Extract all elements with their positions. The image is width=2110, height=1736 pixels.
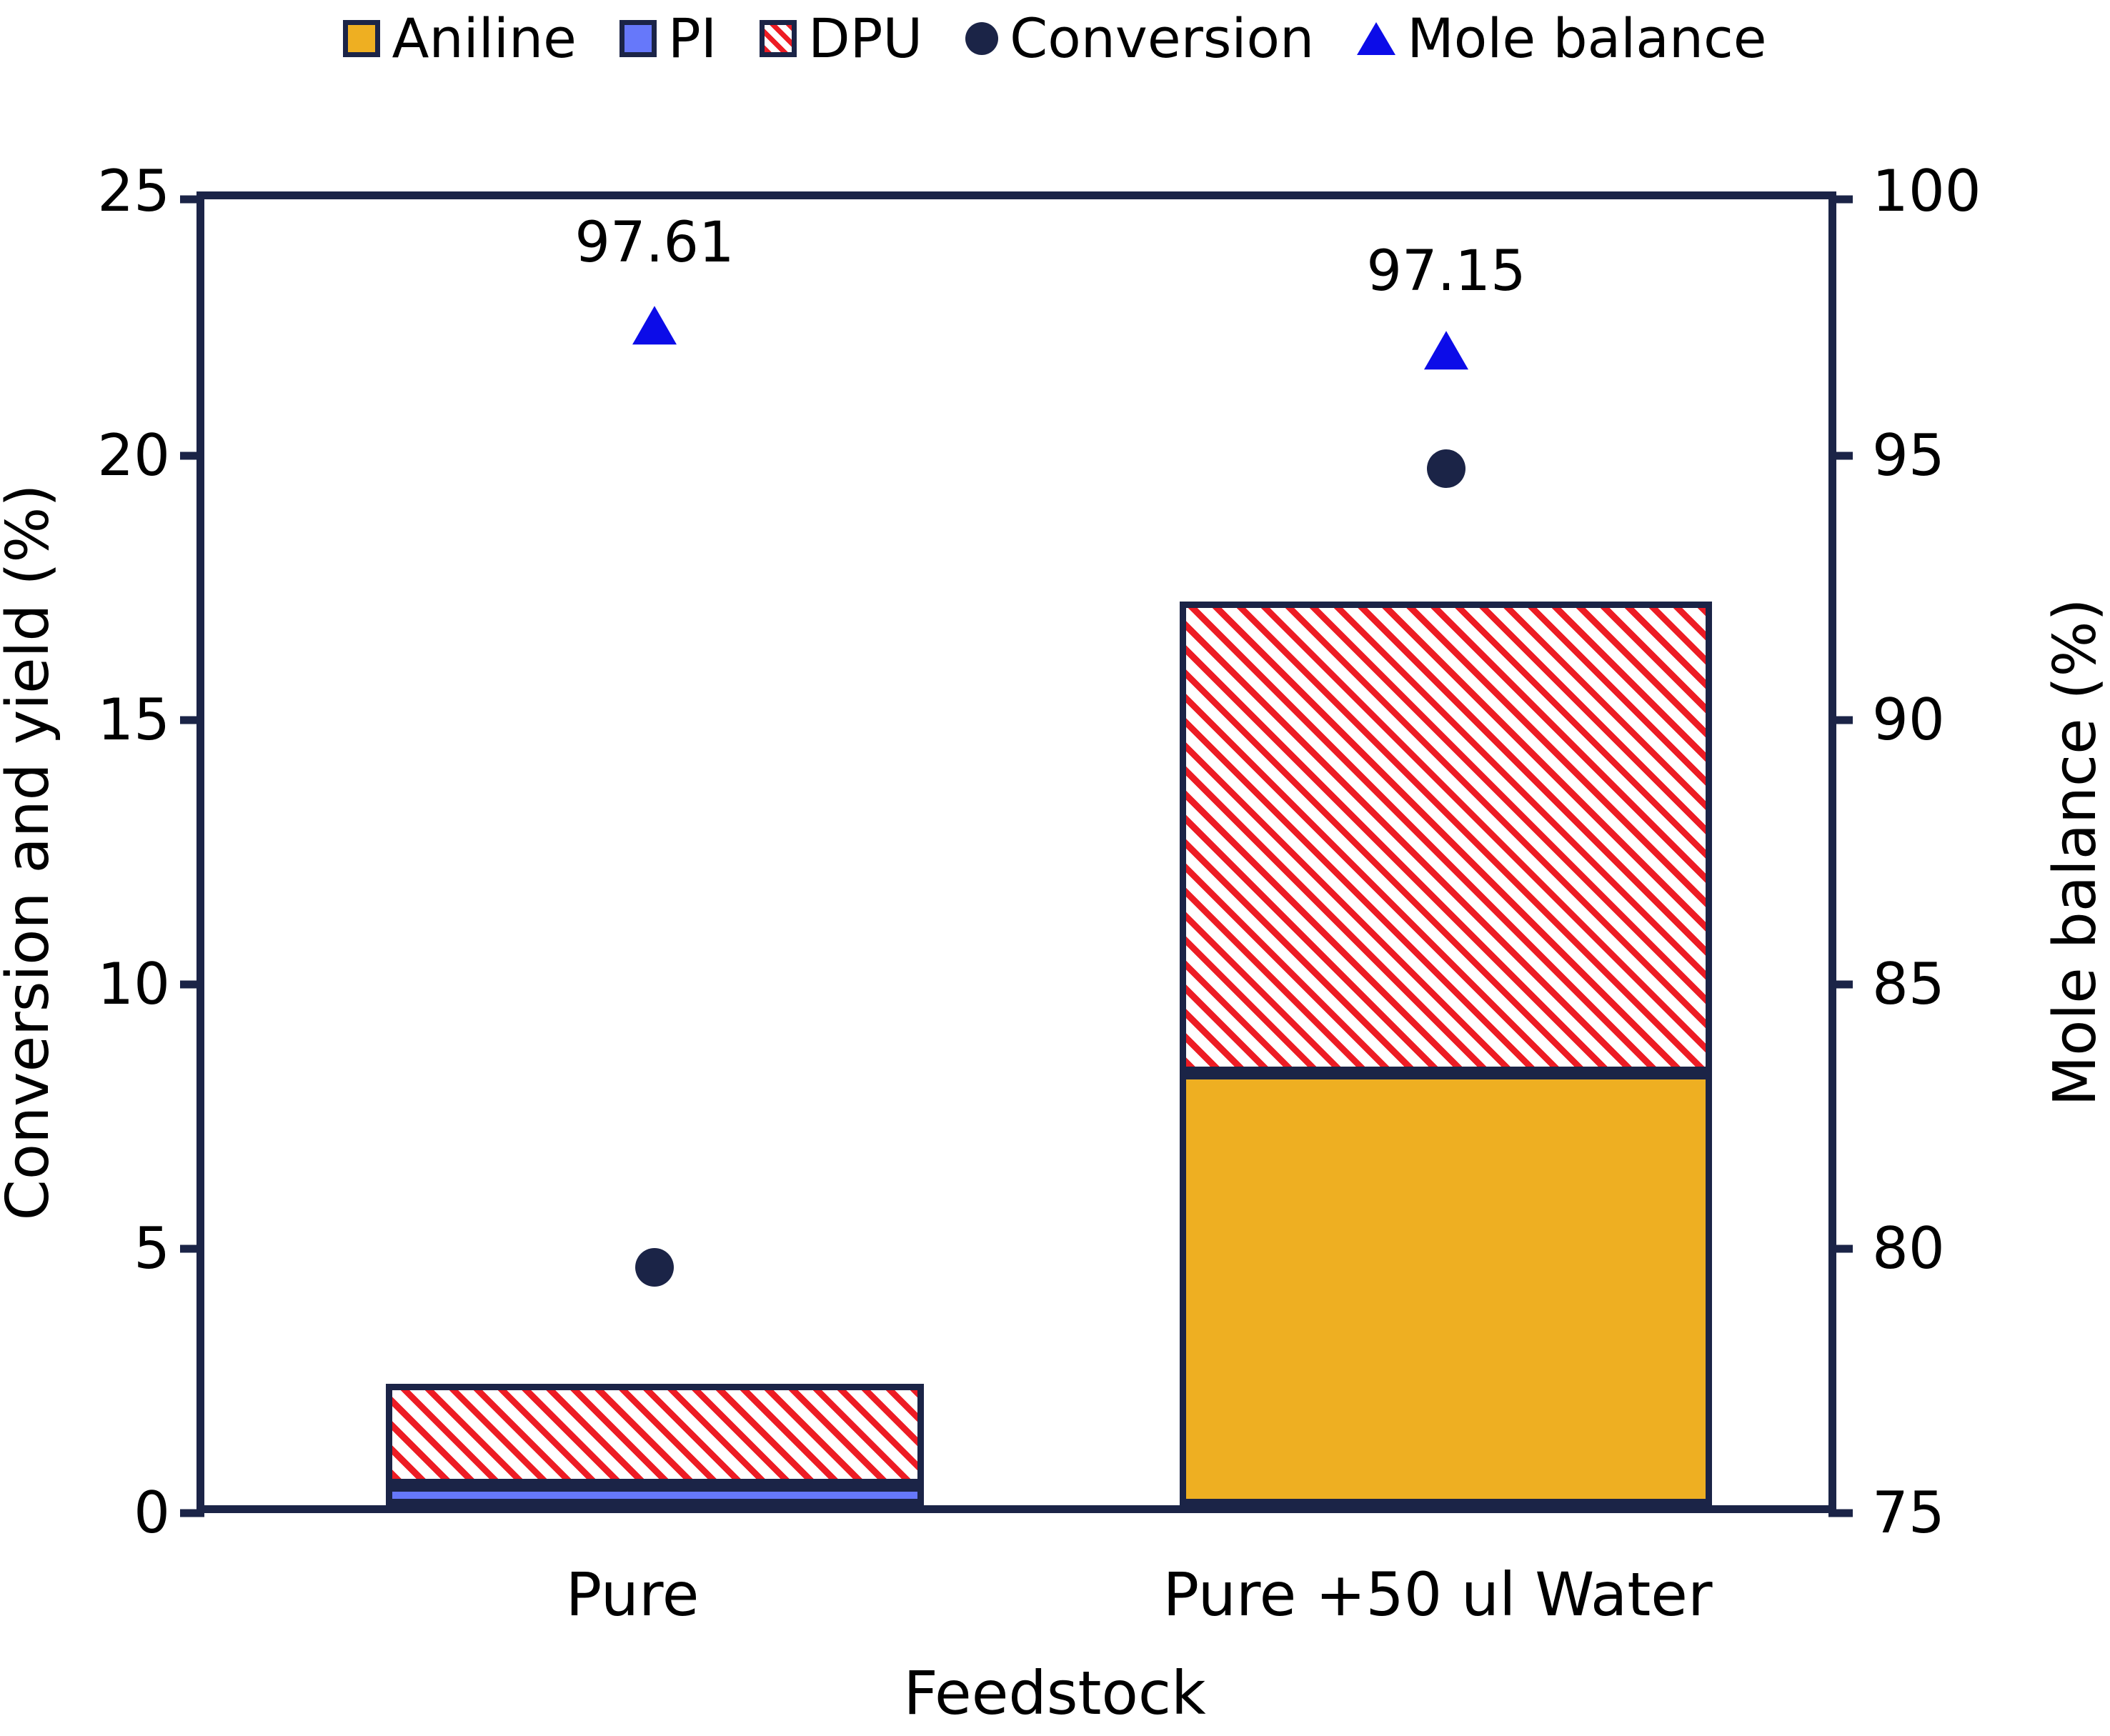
conversion-dot-icon [965,22,998,55]
y-tick-label-right-100: 100 [1872,163,1981,220]
y-tick-right-80 [1828,1245,1853,1253]
y-tick-label-left-15: 15 [97,692,170,749]
aniline-swatch-icon [343,20,380,57]
legend-item-dpu[interactable]: DPU [760,11,922,66]
legend-label-dpu: DPU [808,11,922,66]
legend-label-aniline: Aniline [392,11,576,66]
y-tick-label-left-20: 20 [97,427,170,484]
legend-label-pi: PI [668,11,717,66]
conversion-point-pure-plus-water[interactable] [1427,449,1465,488]
data-label-pure-plus-water: 97.15 [1366,244,1526,299]
plot-area: 97.61 97.15 [196,191,1836,1513]
conversion-point-pure[interactable] [635,1248,674,1287]
legend-item-pi[interactable]: PI [619,11,717,66]
y-tick-left-0 [180,1510,204,1517]
y-tick-right-75 [1828,1510,1853,1517]
y-tick-label-left-0: 0 [134,1485,170,1542]
y-tick-label-right-90: 90 [1872,692,1945,749]
legend-item-mole-balance[interactable]: Mole balance [1357,11,1766,66]
y-axis-title-right: Mole balance (%) [2046,598,2105,1106]
y-tick-label-left-5: 5 [134,1220,170,1277]
legend-label-mole-balance: Mole balance [1407,11,1766,66]
y-tick-label-right-85: 85 [1872,956,1945,1013]
chart-root: Aniline PI DPU Conversion Mole balance [0,0,2110,1736]
y-tick-left-15 [180,717,204,724]
y-tick-label-left-25: 25 [97,163,170,220]
y-tick-left-5 [180,1245,204,1253]
y-tick-right-90 [1828,717,1853,724]
y-tick-right-100 [1828,196,1853,204]
bar-pure[interactable] [386,1384,924,1505]
pi-swatch-icon [619,20,657,57]
y-tick-right-95 [1828,452,1853,460]
x-category-label-pure-plus-water: Pure +50 ul Water [1163,1565,1712,1625]
legend-item-conversion[interactable]: Conversion [965,11,1314,66]
legend-label-conversion: Conversion [1010,11,1314,66]
y-tick-label-right-95: 95 [1872,427,1945,484]
legend-item-aniline[interactable]: Aniline [343,11,576,66]
y-tick-label-right-75: 75 [1872,1485,1945,1542]
y-tick-left-20 [180,452,204,460]
mole-balance-triangle-icon [1357,22,1395,55]
dpu-swatch-icon [760,20,797,57]
x-category-label-pure: Pure [566,1565,700,1625]
mole-balance-point-pure[interactable] [632,306,677,344]
y-tick-label-left-10: 10 [97,956,170,1013]
x-axis-title: Feedstock [903,1663,1205,1723]
y-tick-right-85 [1828,981,1853,989]
bar-segment-aniline-pure-plus-water [1180,1073,1712,1505]
bar-segment-dpu-pure [386,1384,924,1485]
mole-balance-point-pure-plus-water[interactable] [1424,331,1468,369]
bar-segment-dpu-pure-plus-water [1180,602,1712,1073]
y-tick-label-right-80: 80 [1872,1220,1945,1277]
y-tick-left-25 [180,196,204,204]
data-label-pure: 97.61 [574,215,734,271]
bar-pure-plus-water[interactable] [1180,602,1712,1505]
y-axis-title-left: Conversion and yield (%) [0,484,58,1221]
bar-segment-pi-pure [386,1485,924,1505]
y-tick-left-10 [180,981,204,989]
chart-legend: Aniline PI DPU Conversion Mole balance [0,6,2110,71]
